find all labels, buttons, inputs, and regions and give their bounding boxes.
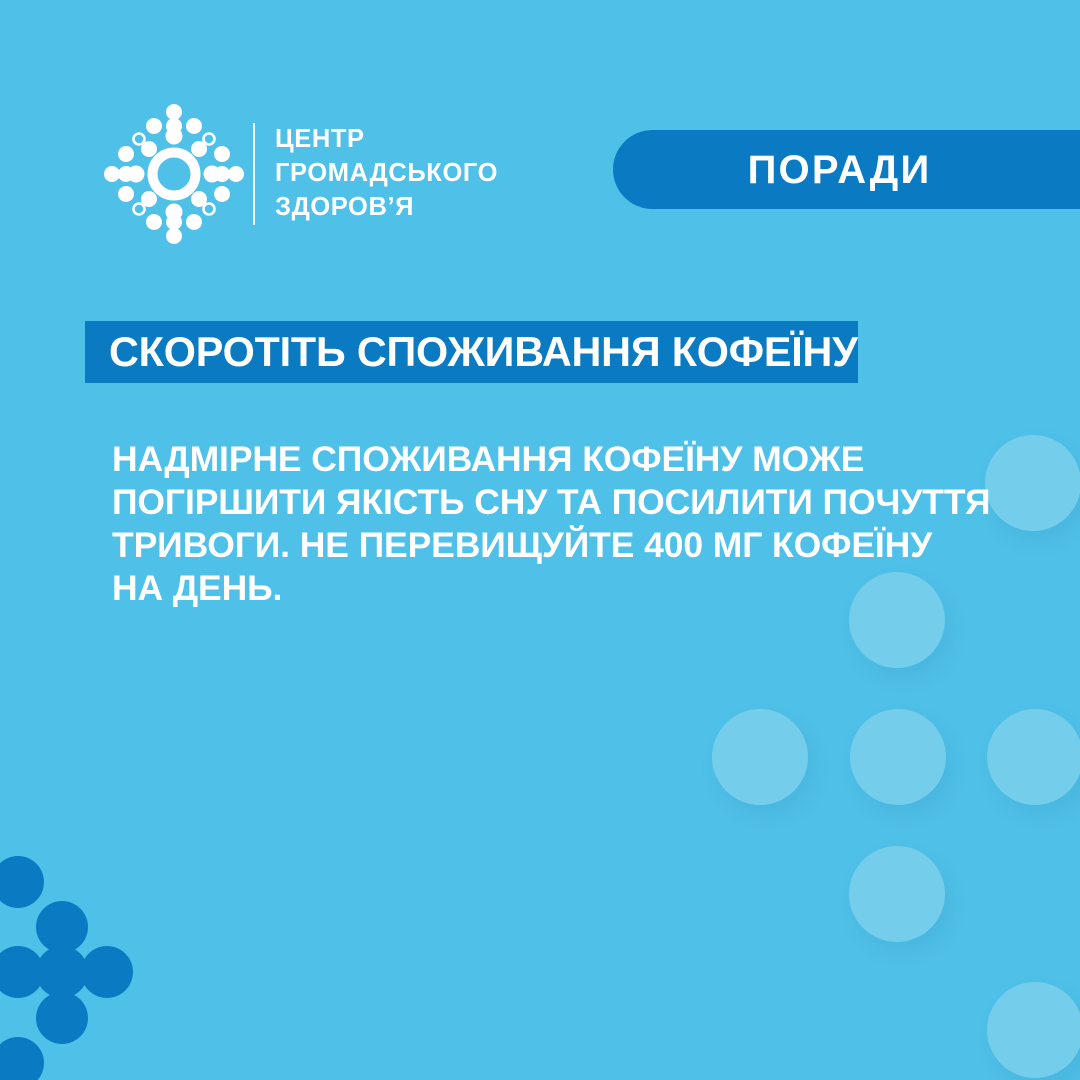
category-badge-label: ПОРАДИ bbox=[748, 150, 932, 190]
decorative-circle bbox=[712, 709, 808, 805]
public-health-center-logo-icon bbox=[104, 104, 244, 244]
logo[interactable]: ЦЕНТР ГРОМАДСЬКОГО ЗДОРОВ’Я bbox=[104, 104, 504, 244]
page-title: СКОРОТІТЬ СПОЖИВАННЯ КОФЕЇНУ bbox=[109, 331, 858, 373]
decorative-circle bbox=[850, 709, 946, 805]
headline-band: СКОРОТІТЬ СПОЖИВАННЯ КОФЕЇНУ bbox=[85, 321, 858, 383]
decorative-circle bbox=[849, 846, 945, 942]
logo-wordmark: ЦЕНТР ГРОМАДСЬКОГО ЗДОРОВ’Я bbox=[275, 122, 595, 224]
category-badge[interactable]: ПОРАДИ bbox=[613, 130, 1080, 209]
body-line: НА ДЕНЬ. bbox=[112, 567, 992, 610]
poster-canvas: ЦЕНТР ГРОМАДСЬКОГО ЗДОРОВ’Я ПОРАДИ СКОРО… bbox=[0, 0, 1080, 1080]
body-line: ТРИВОГИ. НЕ ПЕРЕВИЩУЙТЕ 400 МГ КОФЕЇНУ bbox=[112, 524, 992, 567]
decorative-dot bbox=[81, 946, 133, 998]
decorative-dot bbox=[36, 992, 88, 1044]
decorative-circle bbox=[987, 709, 1080, 805]
decorative-circle bbox=[987, 982, 1080, 1078]
body-line: ПОГІРШИТИ ЯКІСТЬ СНУ ТА ПОСИЛИТИ ПОЧУТТЯ bbox=[112, 481, 992, 524]
decorative-dot bbox=[0, 1037, 44, 1080]
logo-wordmark-line-1: ЦЕНТР bbox=[275, 122, 595, 156]
decorative-circle bbox=[985, 435, 1080, 531]
logo-wordmark-line-3: ЗДОРОВ’Я bbox=[275, 190, 595, 224]
body-paragraph: НАДМІРНЕ СПОЖИВАННЯ КОФЕЇНУ МОЖЕ ПОГІРШИ… bbox=[112, 438, 992, 610]
body-line: НАДМІРНЕ СПОЖИВАННЯ КОФЕЇНУ МОЖЕ bbox=[112, 438, 992, 481]
logo-divider bbox=[253, 123, 255, 225]
logo-wordmark-line-2: ГРОМАДСЬКОГО bbox=[275, 156, 595, 190]
decorative-dot bbox=[0, 856, 44, 908]
